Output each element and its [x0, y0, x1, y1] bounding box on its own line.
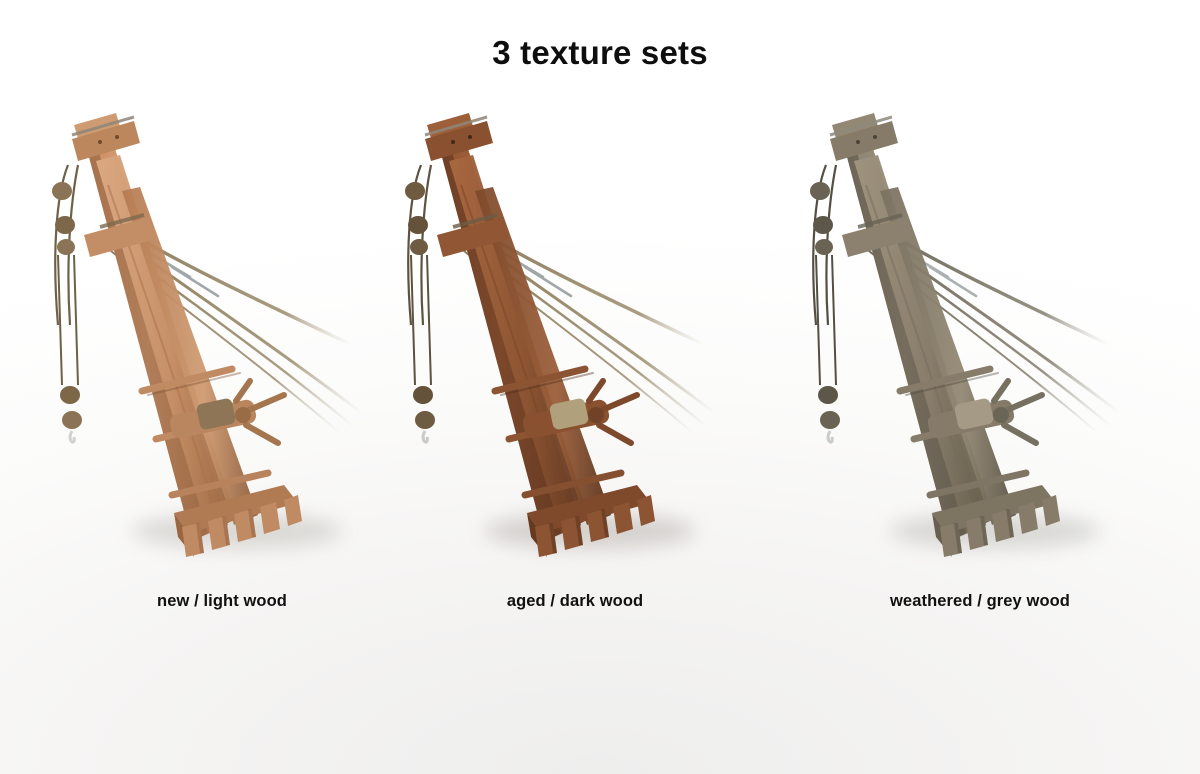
variant-weathered-grey-wood — [780, 95, 1180, 595]
lifting-hook — [828, 431, 832, 442]
variant-new-light-wood — [22, 95, 422, 595]
diagonal-brace — [854, 155, 994, 533]
model-render-aged-dark-wood — [375, 95, 775, 595]
block-and-tackle-pulley — [405, 165, 435, 442]
asset-showcase-canvas: 3 texture sets — [0, 0, 1200, 774]
block-and-tackle-pulley — [52, 165, 82, 442]
variant-aged-dark-wood — [375, 95, 775, 595]
model-render-weathered-grey-wood — [780, 95, 1180, 595]
model-render-new-light-wood — [22, 95, 422, 595]
diagonal-brace — [96, 155, 236, 533]
lifting-hook — [70, 431, 74, 442]
page-title: 3 texture sets — [0, 34, 1200, 72]
crane-model — [52, 113, 362, 557]
crane-model — [810, 113, 1120, 557]
caption-aged-dark-wood: aged / dark wood — [375, 592, 775, 611]
crane-model — [405, 113, 715, 557]
caption-weathered-grey-wood: weathered / grey wood — [780, 592, 1180, 611]
block-and-tackle-pulley — [810, 165, 840, 442]
diagonal-brace — [449, 155, 589, 533]
caption-new-light-wood: new / light wood — [22, 592, 422, 611]
lifting-hook — [423, 431, 427, 442]
